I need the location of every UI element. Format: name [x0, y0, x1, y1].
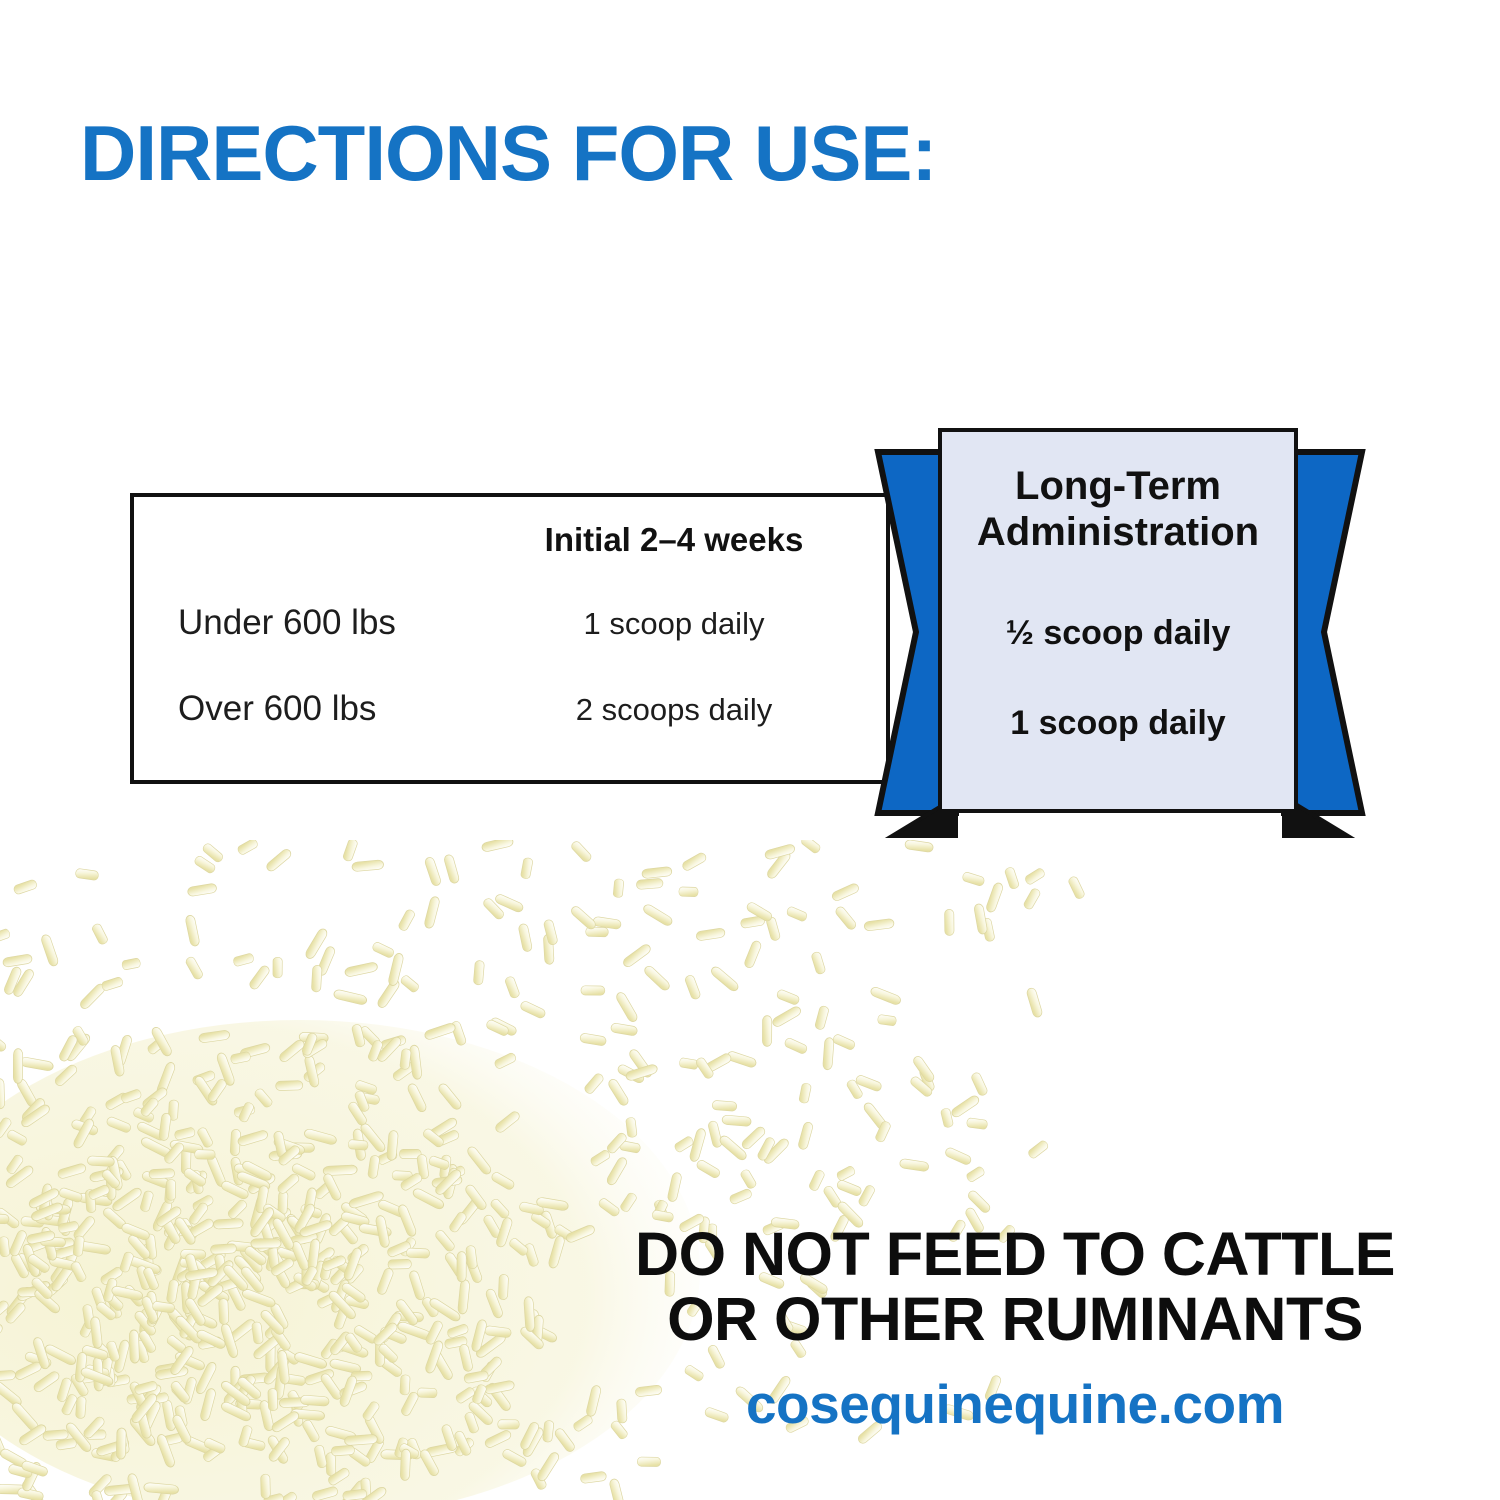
dosage-table-header-initial: Initial 2–4 weeks	[504, 521, 844, 559]
website-url-link[interactable]: cosequinequine.com	[600, 1372, 1430, 1436]
dosage-table: Initial 2–4 weeks Under 600 lbs 1 scoop …	[130, 493, 890, 784]
warning-line-1: DO NOT FEED TO CATTLE	[600, 1222, 1430, 1287]
banner-title-line-1: Long-Term	[1015, 464, 1221, 508]
banner-dose-under-600: ½ scoop daily	[942, 614, 1294, 653]
warning-line-2: OR OTHER RUMINANTS	[600, 1287, 1430, 1352]
table-row-initial-under-600: 1 scoop daily	[504, 606, 844, 642]
product-label-panel: DIRECTIONS FOR USE: Initial 2–4 weeks Un…	[0, 0, 1500, 1500]
page-title: DIRECTIONS FOR USE:	[80, 108, 936, 199]
banner-dose-over-600: 1 scoop daily	[942, 704, 1294, 743]
granule-pile-shading	[0, 1020, 700, 1500]
long-term-administration-panel: Long-Term Administration ½ scoop daily 1…	[938, 428, 1298, 813]
warning-text: DO NOT FEED TO CATTLE OR OTHER RUMINANTS	[600, 1222, 1430, 1353]
table-row-initial-over-600: 2 scoops daily	[504, 692, 844, 728]
table-row-weight-under-600: Under 600 lbs	[178, 603, 396, 643]
table-row-weight-over-600: Over 600 lbs	[178, 689, 376, 729]
banner-title-line-2: Administration	[977, 510, 1259, 554]
banner-title: Long-Term Administration	[942, 464, 1294, 555]
